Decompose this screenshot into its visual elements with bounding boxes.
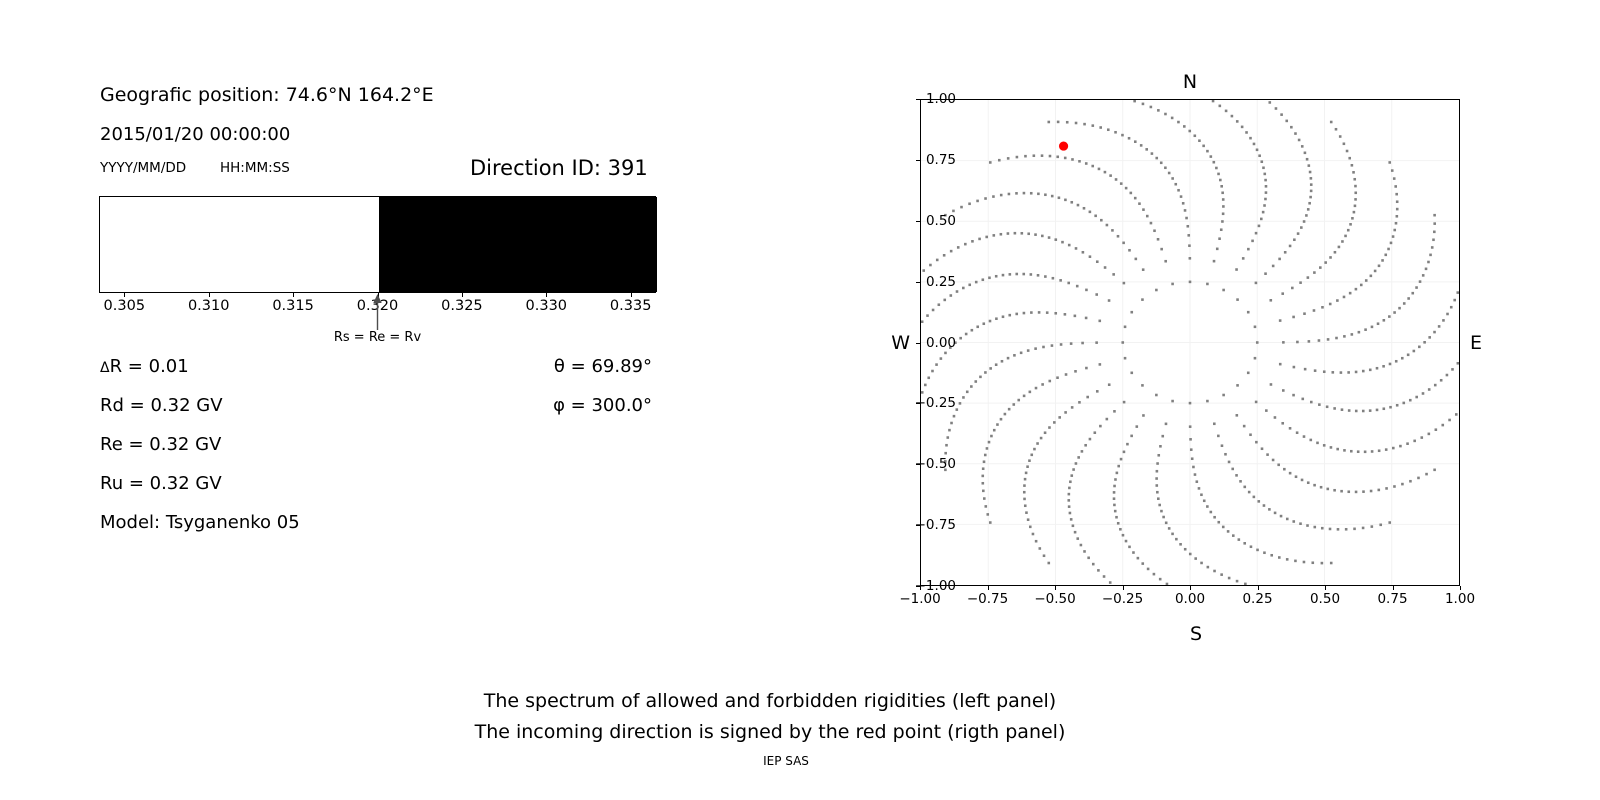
param-rd: Rd = 0.32 GV: [100, 395, 223, 416]
compass-label-west: W: [891, 332, 910, 354]
param-re: Re = 0.32 GV: [100, 434, 221, 455]
param-delta-r-text: R = 0.01: [110, 356, 189, 377]
spectrum-tick-label: 0.310: [188, 298, 230, 314]
geographic-position-text: Geografic position: 74.6°N 164.2°E: [100, 84, 434, 106]
scatter-y-tick-mark: [916, 99, 920, 100]
left-panel: Geografic position: 74.6°N 164.2°E 2015/…: [0, 0, 800, 660]
spectrum-tick-label: 0.325: [441, 298, 483, 314]
scatter-x-tick-mark: [1460, 586, 1461, 590]
rs-annotation-label: Rs = Re = Rv: [334, 330, 421, 345]
delta-symbol: Δ: [100, 360, 110, 376]
param-ru: Ru = 0.32 GV: [100, 473, 222, 494]
scatter-y-tick-label: 0.25: [926, 274, 956, 290]
scatter-y-tick-mark: [916, 525, 920, 526]
spectrum-tick-label: 0.335: [610, 298, 652, 314]
scatter-x-tick-mark: [1393, 586, 1394, 590]
param-delta-r: ΔR = 0.01: [100, 356, 189, 377]
scatter-x-tick-mark: [1123, 586, 1124, 590]
compass-label-south: S: [1190, 623, 1202, 645]
scatter-y-tick-label: 0.75: [926, 152, 956, 168]
spectrum-tick-mark: [462, 293, 463, 297]
scatter-x-tick-mark: [1190, 586, 1191, 590]
scatter-x-tick-label: −1.00: [899, 591, 940, 607]
highlight-point-red: [1059, 141, 1068, 150]
spectrum-tick-mark: [124, 293, 125, 297]
scatter-x-tick-label: 0.25: [1242, 591, 1272, 607]
rigidity-spectrum-chart: [99, 196, 656, 293]
footer-credit: IEP SAS: [0, 754, 1572, 768]
caption-line-1: The spectrum of allowed and forbidden ri…: [0, 686, 1540, 717]
spectrum-tick-label: 0.315: [272, 298, 314, 314]
spectrum-tick-mark: [546, 293, 547, 297]
param-theta: θ = 69.89°: [554, 356, 652, 377]
scatter-y-tick-label: 0.50: [926, 213, 956, 229]
spectrum-tick-mark: [631, 293, 632, 297]
scatter-plot-area: [920, 99, 1460, 586]
scatter-canvas: [921, 100, 1459, 585]
date-format-label: YYYY/MM/DD: [100, 160, 186, 176]
scatter-y-tick-mark: [916, 464, 920, 465]
compass-label-east: E: [1470, 332, 1482, 354]
caption-line-2: The incoming direction is signed by the …: [0, 717, 1540, 748]
scatter-y-tick-mark: [916, 403, 920, 404]
scatter-x-tick-label: −0.75: [967, 591, 1008, 607]
direction-id-text: Direction ID: 391: [470, 156, 648, 180]
grid-lines: [921, 100, 1459, 585]
scatter-x-tick-label: 1.00: [1445, 591, 1475, 607]
scatter-x-tick-label: 0.50: [1310, 591, 1340, 607]
scatter-y-tick-label: 1.00: [926, 91, 956, 107]
scatter-y-tick-label: −0.50: [915, 456, 956, 472]
compass-label-north: N: [1183, 71, 1197, 93]
spectrum-tick-mark: [209, 293, 210, 297]
scatter-y-tick-label: −0.75: [915, 517, 956, 533]
spectrum-tick-label: 0.305: [104, 298, 146, 314]
scatter-x-tick-mark: [988, 586, 989, 590]
scatter-y-tick-mark: [916, 282, 920, 283]
scatter-x-tick-label: −0.50: [1034, 591, 1075, 607]
scatter-x-tick-mark: [1055, 586, 1056, 590]
scatter-x-tick-mark: [1325, 586, 1326, 590]
scatter-y-tick-label: 0.00: [926, 335, 956, 351]
scatter-y-tick-label: −0.25: [915, 395, 956, 411]
scatter-x-tick-mark: [920, 586, 921, 590]
figure-caption: The spectrum of allowed and forbidden ri…: [0, 686, 1540, 748]
spectrum-plot-area: [99, 196, 656, 293]
scatter-y-tick-mark: [916, 160, 920, 161]
scatter-x-tick-label: −0.25: [1102, 591, 1143, 607]
param-phi: φ = 300.0°: [553, 395, 652, 416]
spectrum-tick-mark: [293, 293, 294, 297]
spectrum-tick-mark: [378, 293, 379, 297]
time-format-label: HH:MM:SS: [220, 160, 290, 176]
spectrum-tick-label: 0.330: [526, 298, 568, 314]
direction-map-chart: N S W E −1.00−0.75−0.50−0.250.000.250.50…: [820, 40, 1600, 660]
spectrum-x-axis: 0.3050.3100.3150.3200.3250.3300.335: [99, 293, 656, 323]
param-model: Model: Tsyganenko 05: [100, 512, 300, 533]
scatter-x-tick-mark: [1258, 586, 1259, 590]
datetime-text: 2015/01/20 00:00:00: [100, 124, 290, 145]
scatter-y-tick-mark: [916, 343, 920, 344]
spectrum-tick-label: 0.320: [357, 298, 399, 314]
scatter-y-tick-mark: [916, 221, 920, 222]
scatter-x-tick-label: 0.75: [1377, 591, 1407, 607]
scatter-x-tick-label: 0.00: [1175, 591, 1205, 607]
spectrum-band-forbidden: [100, 197, 379, 292]
spectrum-band-allowed: [379, 197, 658, 292]
